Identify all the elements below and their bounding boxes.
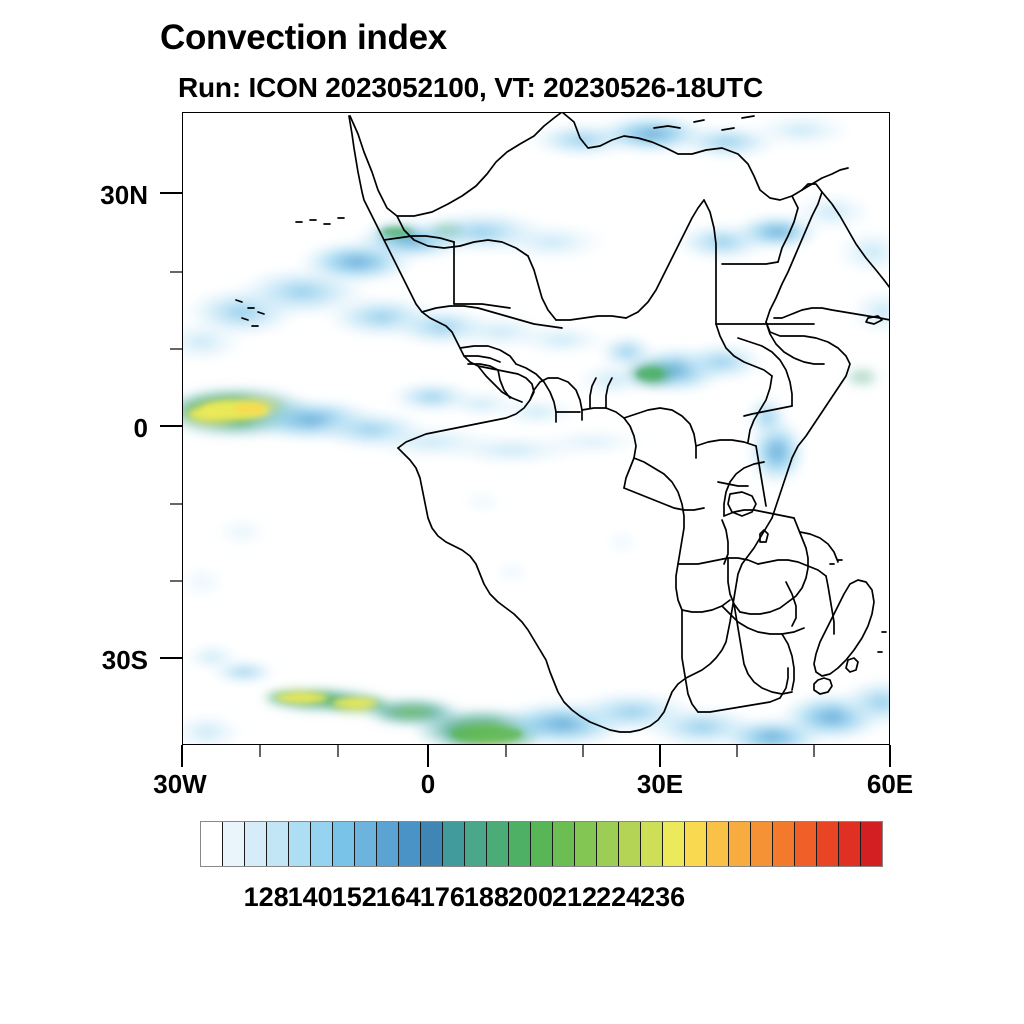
colorbar-cell-6: [333, 822, 355, 866]
x-major-tick: [659, 745, 661, 767]
y-major-tick: [160, 425, 182, 427]
x-minor-tick: [259, 745, 261, 757]
colorbar-cell-2: [245, 822, 267, 866]
colorbar-cell-16: [553, 822, 575, 866]
colorbar-cell-26: [773, 822, 795, 866]
convection-map: [182, 112, 890, 745]
x-minor-tick: [505, 745, 507, 757]
colorbar-cell-5: [311, 822, 333, 866]
colorbar-cell-20: [641, 822, 663, 866]
x-minor-tick: [813, 745, 815, 757]
x-tick-label-0: 0: [368, 769, 488, 800]
colorbar-cell-12: [465, 822, 487, 866]
y-tick-label-30n: 30N: [38, 180, 148, 211]
y-minor-tick: [170, 271, 182, 273]
y-tick-label-0: 0: [38, 413, 148, 444]
x-major-tick: [889, 745, 891, 767]
y-minor-tick: [170, 503, 182, 505]
colorbar-cell-14: [509, 822, 531, 866]
colorbar-cell-29: [839, 822, 861, 866]
colorbar-tick-236: 236: [618, 882, 708, 913]
colorbar-cell-9: [399, 822, 421, 866]
colorbar-cell-25: [751, 822, 773, 866]
x-minor-tick: [736, 745, 738, 757]
x-tick-label-60e: 60E: [830, 769, 950, 800]
colorbar-cell-18: [597, 822, 619, 866]
colorbar-cell-0: [201, 822, 223, 866]
x-major-tick: [427, 745, 429, 767]
y-minor-tick: [170, 580, 182, 582]
chart-subtitle: Run: ICON 2023052100, VT: 20230526-18UTC: [178, 72, 763, 104]
colorbar[interactable]: [200, 821, 883, 867]
colorbar-cell-3: [267, 822, 289, 866]
colorbar-cell-23: [707, 822, 729, 866]
colorbar-cell-17: [575, 822, 597, 866]
colorbar-cell-4: [289, 822, 311, 866]
colorbar-cell-10: [421, 822, 443, 866]
colorbar-cell-28: [817, 822, 839, 866]
colorbar-cell-15: [531, 822, 553, 866]
colorbar-cell-30: [861, 822, 882, 866]
map-plot-area[interactable]: [182, 112, 890, 745]
colorbar-cell-1: [223, 822, 245, 866]
colorbar-cell-24: [729, 822, 751, 866]
x-minor-tick: [337, 745, 339, 757]
figure-canvas: Convection index Run: ICON 2023052100, V…: [0, 0, 1024, 1024]
x-minor-tick: [582, 745, 584, 757]
colorbar-cell-7: [355, 822, 377, 866]
y-major-tick: [160, 192, 182, 194]
colorbar-cell-13: [487, 822, 509, 866]
colorbar-cell-27: [795, 822, 817, 866]
x-tick-label-30e: 30E: [600, 769, 720, 800]
colorbar-cell-21: [663, 822, 685, 866]
colorbar-cell-8: [377, 822, 399, 866]
colorbar-cell-11: [443, 822, 465, 866]
page-title: Convection index: [160, 18, 447, 58]
y-tick-label-30s: 30S: [38, 645, 148, 676]
y-major-tick: [160, 657, 182, 659]
colorbar-cell-19: [619, 822, 641, 866]
x-major-tick: [181, 745, 183, 767]
y-minor-tick: [170, 348, 182, 350]
x-tick-label-30w: 30W: [120, 769, 240, 800]
colorbar-cell-22: [685, 822, 707, 866]
